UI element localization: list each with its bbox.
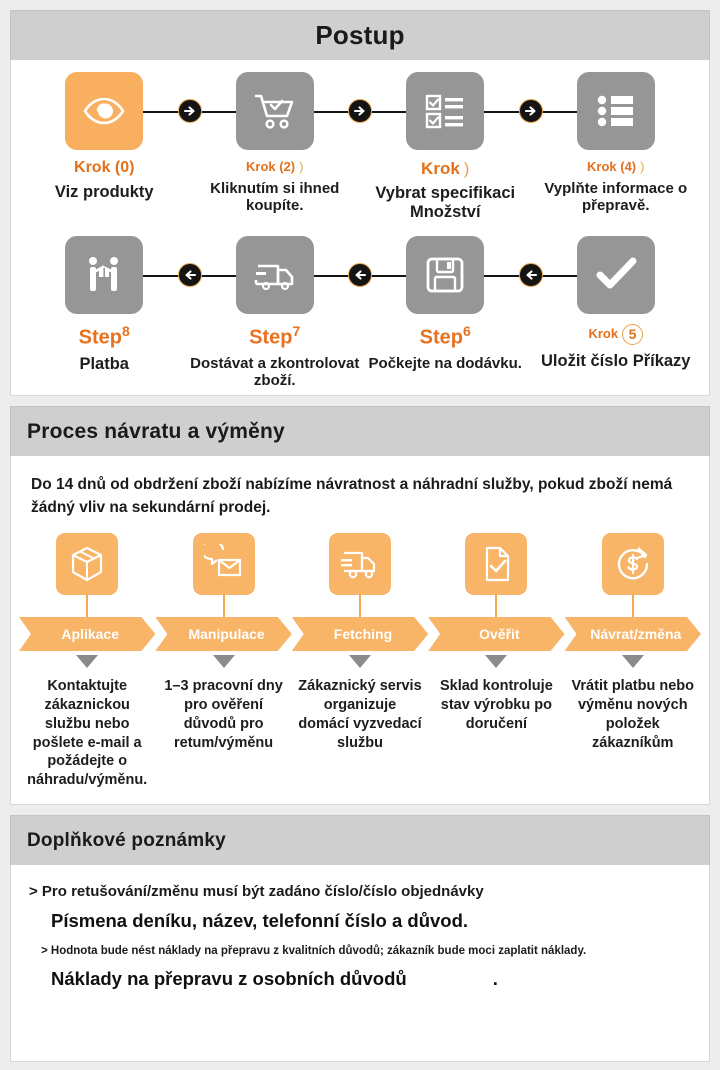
document-check-icon — [465, 533, 527, 595]
procedure-panel: Krok (0) Viz produkty — [10, 60, 710, 396]
chevron-cell-3[interactable]: Ověřit — [428, 617, 564, 651]
step-8-desc: Platba — [79, 355, 130, 374]
stage-note-4: Vrátit platbu nebo výměnu nových položek… — [565, 673, 701, 790]
step-0[interactable]: Krok (0) Viz produkty — [19, 72, 190, 222]
return-stage-1[interactable] — [155, 533, 291, 617]
caret-down-icon — [213, 655, 235, 668]
notes-section-header: Doplňkové poznámky — [10, 815, 710, 865]
arrow-left-icon — [178, 263, 202, 287]
returns-section-header: Proces návratu a výměny — [10, 406, 710, 456]
stage-stem — [632, 595, 634, 617]
step-7-label: Step7 Dostávat a zkontrolovat zboží. — [190, 324, 361, 389]
return-stage-0[interactable] — [19, 533, 155, 617]
step-6-desc: Počkejte na dodávku. — [369, 355, 522, 372]
step-3[interactable]: Krok) Vybrat specifikaci Množství — [360, 72, 531, 222]
chevron-label-fetching: Fetching — [292, 617, 428, 651]
chevron-cell-1[interactable]: Manipulace — [155, 617, 291, 651]
pickup-truck-icon — [329, 533, 391, 595]
step-6[interactable]: Step6 Počkejte na dodávku. — [360, 236, 531, 389]
return-stage-4[interactable] — [565, 533, 701, 617]
shopping-cart-icon — [236, 72, 314, 150]
save-floppy-icon — [406, 236, 484, 314]
chevron-cell-4[interactable]: Návrat/změna — [565, 617, 701, 651]
returns-panel: Do 14 dnů od obdržení zboží nabízíme náv… — [10, 456, 710, 805]
chevron-cell-0[interactable]: Aplikace — [19, 617, 155, 651]
step-4[interactable]: Krok (4)) Vyplňte informace o přepravě. — [531, 72, 702, 222]
chevron-label-aplikace: Aplikace — [19, 617, 155, 651]
notes-body: > Pro retušování/změnu musí být zadáno č… — [11, 865, 709, 1010]
note-line-4-period: . — [493, 968, 498, 989]
procedure-row-2: Step8 Platba — [11, 236, 709, 389]
handshake-delivery-icon — [65, 236, 143, 314]
caret-cell-4 — [565, 651, 701, 673]
returns-intro: Do 14 dnů od obdržení zboží nabízíme náv… — [11, 456, 709, 525]
step-0-badge: Krok (0) — [55, 160, 154, 176]
procedure-title: Postup — [315, 20, 404, 51]
returns-flow: Aplikace Manipulace Fetching Ověřit Návr… — [11, 525, 709, 804]
caret-down-icon — [349, 655, 371, 668]
stage-note-2: Zákaznický servis organizuje domácí vyzv… — [292, 673, 428, 790]
step-2[interactable]: Krok (2)) Kliknutím si ihned koupíte. — [190, 72, 361, 222]
step-5-label: Krok5 Uložit číslo Příkazy — [541, 324, 690, 371]
step-5[interactable]: Krok5 Uložit číslo Příkazy — [531, 236, 702, 389]
step-8-label: Step8 Platba — [79, 324, 130, 374]
arrow-left-icon — [348, 263, 372, 287]
step-7[interactable]: Step7 Dostávat a zkontrolovat zboží. — [190, 236, 361, 389]
step-2-desc: Kliknutím si ihned koupíte. — [190, 180, 361, 215]
returns-icon-row — [19, 533, 701, 617]
step-4-badge: Krok (4)) — [531, 160, 702, 173]
step-3-desc: Vybrat specifikaci Množství — [360, 184, 531, 222]
step-8[interactable]: Step8 Platba — [19, 236, 190, 389]
stage-stem — [86, 595, 88, 617]
stage-note-1: 1–3 pracovní dny pro ověření důvodů pro … — [155, 673, 291, 790]
caret-cell-2 — [292, 651, 428, 673]
delivery-truck-icon — [236, 236, 314, 314]
step-7-desc: Dostávat a zkontrolovat zboží. — [190, 355, 361, 390]
step-5-badge: Krok5 — [541, 324, 690, 345]
package-box-icon — [56, 533, 118, 595]
caret-cell-0 — [19, 651, 155, 673]
step-2-badge: Krok (2)) — [190, 160, 361, 173]
stage-stem — [495, 595, 497, 617]
caret-down-icon — [622, 655, 644, 668]
arrow-right-icon — [348, 99, 372, 123]
step-7-badge: Step7 — [190, 324, 361, 348]
caret-down-icon — [485, 655, 507, 668]
chevron-label-overit: Ověřit — [428, 617, 564, 651]
stage-stem — [223, 595, 225, 617]
step-2-label: Krok (2)) Kliknutím si ihned koupíte. — [190, 160, 361, 215]
procedure-section-header: Postup — [10, 10, 710, 60]
chevron-cell-2[interactable]: Fetching — [292, 617, 428, 651]
stage-note-3: Sklad kontroluje stav výrobku po doručen… — [428, 673, 564, 790]
arrow-left-icon — [519, 263, 543, 287]
chat-mail-icon — [193, 533, 255, 595]
list-bullets-icon — [577, 72, 655, 150]
procedure-row-1: Krok (0) Viz produkty — [11, 72, 709, 222]
refund-dollar-icon — [602, 533, 664, 595]
return-stage-2[interactable] — [292, 533, 428, 617]
step-6-badge: Step6 — [369, 324, 522, 348]
step-3-badge: Krok) — [360, 160, 531, 177]
note-line-4: Náklady na přepravu z osobních důvodů. — [51, 967, 691, 992]
returns-title: Proces návratu a výměny — [27, 420, 285, 444]
note-line-4-text: Náklady na přepravu z osobních důvodů — [51, 968, 407, 989]
step-4-label: Krok (4)) Vyplňte informace o přepravě. — [531, 160, 702, 215]
notes-panel: > Pro retušování/změnu musí být zadáno č… — [10, 865, 710, 1062]
stage-stem — [359, 595, 361, 617]
step-4-desc: Vyplňte informace o přepravě. — [531, 180, 702, 215]
arrow-right-icon — [519, 99, 543, 123]
step-5-number: 5 — [622, 324, 643, 345]
caret-cell-1 — [155, 651, 291, 673]
note-line-1: > Pro retušování/změnu musí být zadáno č… — [29, 881, 691, 902]
step-8-badge: Step8 — [79, 324, 130, 348]
note-line-3: > Hodnota bude nést náklady na přepravu … — [41, 943, 691, 959]
notes-title: Doplňkové poznámky — [27, 830, 226, 852]
step-0-label: Krok (0) Viz produkty — [55, 160, 154, 202]
checklist-icon — [406, 72, 484, 150]
arrow-right-icon — [178, 99, 202, 123]
infographic-page: Postup Krok (0) Viz produkt — [0, 0, 720, 1070]
step-3-label: Krok) Vybrat specifikaci Množství — [360, 160, 531, 222]
caret-down-icon — [76, 655, 98, 668]
returns-caret-row — [19, 651, 701, 673]
returns-notes-row: Kontaktujte zákaznickou službu nebo pošl… — [19, 673, 701, 790]
checkmark-icon — [577, 236, 655, 314]
stage-note-0: Kontaktujte zákaznickou službu nebo pošl… — [19, 673, 155, 790]
chevron-label-manipulace: Manipulace — [155, 617, 291, 651]
return-stage-3[interactable] — [428, 533, 564, 617]
note-line-2: Písmena deníku, název, telefonní číslo a… — [51, 909, 691, 934]
caret-cell-3 — [428, 651, 564, 673]
eye-icon — [65, 72, 143, 150]
step-5-desc: Uložit číslo Příkazy — [541, 352, 690, 371]
step-0-desc: Viz produkty — [55, 183, 154, 202]
procedure-flow: Krok (0) Viz produkty — [11, 60, 709, 395]
chevron-label-navrat-zmena: Návrat/změna — [565, 617, 701, 651]
step-6-label: Step6 Počkejte na dodávku. — [369, 324, 522, 372]
returns-chevron-row: Aplikace Manipulace Fetching Ověřit Návr… — [19, 617, 701, 651]
